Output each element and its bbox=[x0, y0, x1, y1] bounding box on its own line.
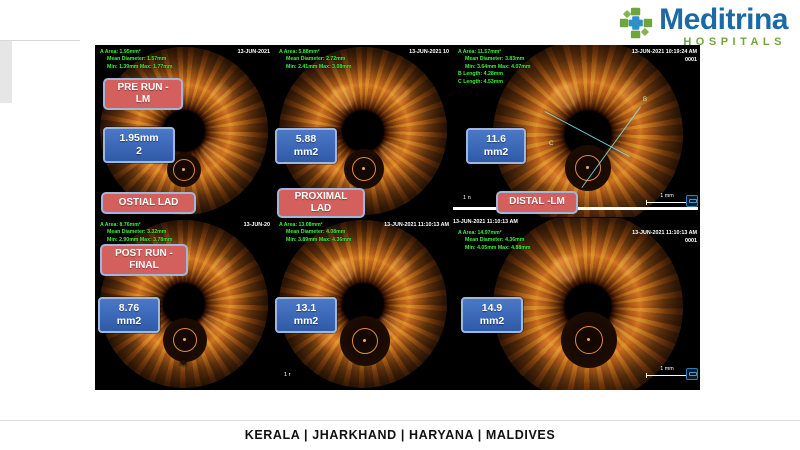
brand-logo: Meditrina HOSPITALS bbox=[619, 4, 788, 49]
timestamp-bottom-row-header: 13-JUN-2021 11:10:13 AM bbox=[453, 219, 518, 227]
area-value: A Area: 13.08mm² bbox=[279, 222, 322, 228]
axis-label-b: B bbox=[643, 97, 647, 103]
area-value: A Area: 1.95mm² bbox=[100, 49, 141, 55]
c-length-value: C Length: 4.53mm bbox=[458, 79, 530, 86]
mean-diameter-value: Mean Diameter: 3.83mm bbox=[458, 56, 530, 63]
callout-line-1: 14.9 bbox=[482, 302, 502, 315]
timestamp-pre-run-lm: 13-JUN-2021 bbox=[238, 49, 270, 57]
catheter-center-dot bbox=[587, 338, 590, 341]
mean-diameter-value: Mean Diameter: 4.08mm bbox=[279, 229, 351, 236]
min-max-value: Min: 4.05mm Max: 4.88mm bbox=[458, 245, 530, 252]
callout-line-2: mm2 bbox=[117, 315, 142, 328]
callout-line-1: 8.76 bbox=[119, 302, 139, 315]
catheter-center-dot bbox=[586, 166, 589, 169]
scale-bar-top-right: 1 mm bbox=[646, 193, 688, 203]
oct-console: A Area: 1.95mm² Mean Diameter: 1.57mm Mi… bbox=[95, 45, 700, 390]
chip-glyph bbox=[689, 199, 697, 203]
timestamp-proximal-lad-post: 13-JUN-2021 11:10:13 AM bbox=[384, 222, 449, 230]
catheter-center-dot bbox=[362, 167, 365, 170]
scale-label: 1 mm bbox=[660, 193, 673, 199]
axis-label-c: C bbox=[549, 141, 553, 147]
measurement-readout-pre-run-lm: A Area: 1.95mm² Mean Diameter: 1.57mm Mi… bbox=[100, 49, 172, 71]
panel-row-bottom: A Area: 8.76mm² Mean Diameter: 3.32mm Mi… bbox=[95, 218, 700, 390]
label-ostial-lad[interactable]: OSTIAL LAD bbox=[101, 192, 196, 214]
callout-line-2: mm2 bbox=[480, 315, 505, 328]
callout-line-2: 2 bbox=[136, 145, 142, 158]
timestamp-value: 13-JUN-2021 11:10:13 AM bbox=[632, 230, 697, 236]
callout-line-1: 1.95mm bbox=[119, 132, 158, 145]
slide-root: Meditrina HOSPITALS A Area: 1.95mm² Mean… bbox=[0, 0, 800, 450]
vendor-chip-icon bbox=[686, 368, 698, 380]
scale-label-small-bottom: 1 r bbox=[284, 372, 291, 378]
callout-area-proximal-lad-pre[interactable]: 5.88 mm2 bbox=[275, 128, 337, 164]
scale-bar-bottom-right: 1 mm bbox=[646, 366, 688, 376]
top-divider bbox=[0, 40, 80, 41]
measurement-readout-proximal-lad-pre: A Area: 5.88mm² Mean Diameter: 2.72mm Mi… bbox=[279, 49, 351, 71]
measurement-readout-post-run-final: A Area: 8.76mm² Mean Diameter: 3.32mm Mi… bbox=[100, 222, 172, 244]
timestamp-proximal-lad-pre: 13-JUN-2021 10 bbox=[409, 49, 449, 57]
callout-area-distal-lm-pre[interactable]: 11.6 mm2 bbox=[466, 128, 526, 164]
left-strip bbox=[0, 41, 12, 103]
timestamp-value: 13-JUN-2021 10:19:24 AM bbox=[632, 49, 697, 55]
callout-line-1: 11.6 bbox=[486, 133, 506, 146]
callout-line-2: mm2 bbox=[294, 146, 319, 159]
mean-diameter-value: Mean Diameter: 2.72mm bbox=[279, 56, 351, 63]
scale-label-small-top: 1 n bbox=[463, 195, 471, 201]
guidewire-shadow bbox=[181, 360, 186, 365]
callout-line-2: LM bbox=[136, 94, 150, 107]
measurement-readout-distal-lm-post: A Area: 14.97mm² Mean Diameter: 4.36mm M… bbox=[458, 230, 530, 252]
callout-post-run-final[interactable]: POST RUN - FINAL bbox=[100, 244, 188, 276]
callout-area-pre-run-lm[interactable]: 1.95mm 2 bbox=[103, 127, 175, 163]
measurement-readout-proximal-lad-post: A Area: 13.08mm² Mean Diameter: 4.08mm M… bbox=[279, 222, 351, 244]
callout-line-2: mm2 bbox=[484, 146, 509, 159]
callout-area-proximal-lad-post[interactable]: 13.1 mm2 bbox=[275, 297, 337, 333]
footer-divider bbox=[0, 420, 800, 421]
brand-text: Meditrina HOSPITALS bbox=[659, 4, 788, 49]
frame-id: 0001 bbox=[632, 238, 697, 246]
scale-bar-line bbox=[646, 202, 688, 203]
callout-line-2: mm2 bbox=[294, 315, 319, 328]
label-line-1: DISTAL -LM bbox=[509, 196, 565, 209]
timestamp-distal-lm-post: 13-JUN-2021 11:10:13 AM 0001 bbox=[632, 230, 697, 245]
label-distal-lm[interactable]: DISTAL -LM bbox=[496, 191, 578, 214]
brand-name: Meditrina bbox=[659, 4, 788, 36]
timestamp-distal-lm-pre: 13-JUN-2021 10:19:24 AM 0001 bbox=[632, 49, 697, 64]
min-max-value: Min: 1.39mm Max: 1.77mm bbox=[100, 64, 172, 71]
callout-area-post-run-final[interactable]: 8.76 mm2 bbox=[98, 297, 160, 333]
area-value: A Area: 5.88mm² bbox=[279, 49, 320, 55]
timestamp-post-run-final: 13-JUN-20 bbox=[244, 222, 270, 230]
scale-label: 1 mm bbox=[660, 366, 673, 372]
label-proximal-lad[interactable]: PROXIMAL LAD bbox=[277, 188, 365, 218]
callout-line-1: 13.1 bbox=[296, 302, 316, 315]
catheter-center-dot bbox=[182, 168, 185, 171]
mean-diameter-value: Mean Diameter: 1.57mm bbox=[100, 56, 172, 63]
area-value: A Area: 8.76mm² bbox=[100, 222, 141, 228]
callout-pre-run-lm[interactable]: PRE RUN - LM bbox=[103, 78, 183, 110]
mean-diameter-value: Mean Diameter: 4.36mm bbox=[458, 237, 530, 244]
catheter-center-dot bbox=[363, 339, 366, 342]
min-max-value: Min: 3.89mm Max: 4.36mm bbox=[279, 237, 351, 244]
label-line-2: LAD bbox=[311, 203, 332, 216]
frame-id: 0001 bbox=[632, 57, 697, 65]
area-value: A Area: 14.97mm² bbox=[458, 230, 501, 236]
min-max-value: Min: 2.41mm Max: 3.08mm bbox=[279, 64, 351, 71]
scale-bar-line bbox=[646, 375, 688, 376]
label-line-1: PROXIMAL bbox=[295, 191, 348, 204]
callout-line-2: FINAL bbox=[129, 260, 158, 273]
area-value: A Area: 11.57mm² bbox=[458, 49, 501, 55]
catheter-center-dot bbox=[183, 338, 186, 341]
vendor-chip-icon bbox=[686, 195, 698, 207]
label-line-1: OSTIAL LAD bbox=[119, 197, 179, 210]
medical-cross-icon bbox=[619, 6, 653, 40]
callout-line-1: PRE RUN - bbox=[117, 82, 168, 95]
callout-area-distal-lm-post[interactable]: 14.9 mm2 bbox=[461, 297, 523, 333]
mean-diameter-value: Mean Diameter: 3.32mm bbox=[100, 229, 172, 236]
b-length-value: B Length: 4.28mm bbox=[458, 71, 530, 78]
callout-line-1: 5.88 bbox=[296, 133, 316, 146]
footer-locations: KERALA | JHARKHAND | HARYANA | MALDIVES bbox=[0, 428, 800, 442]
measurement-readout-distal-lm-pre: A Area: 11.57mm² Mean Diameter: 3.83mm M… bbox=[458, 49, 530, 86]
chip-glyph bbox=[689, 372, 697, 376]
callout-line-1: POST RUN - bbox=[115, 248, 173, 261]
